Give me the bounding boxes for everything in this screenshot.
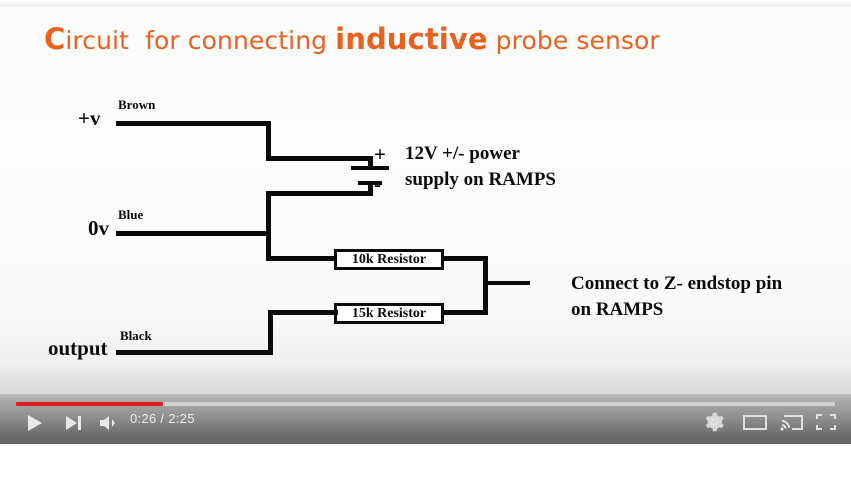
volume-button[interactable] [97,412,121,434]
endstop-note-line2: on RAMPS [571,298,663,322]
slide-title-emphasis: inductive [335,22,487,56]
wire-color-label-black: Black [120,328,152,344]
wire-15k-to-junction [443,310,488,315]
time-display: 0:26 / 2:25 [130,411,195,426]
slide-title-tail: probe sensor [496,26,660,55]
wire-battery-negative-rail [266,191,373,196]
wire-output-to-endstop [483,281,530,285]
wire-output-horizontal [116,350,273,355]
theater-mode-icon[interactable] [742,412,768,432]
top-edge-divider [0,0,851,7]
resistor-10k: 10k Resistor [334,249,444,270]
wire-zero-v-to-10k [266,256,336,261]
fullscreen-icon[interactable] [815,412,837,432]
battery-minus-sign: - [374,172,381,197]
progress-bar-track[interactable] [16,402,835,406]
battery-plus-sign: + [374,142,386,167]
video-title-bar: Auto Bed Leveling Installation Guide for… [0,444,851,497]
wire-zero-v-bus-vertical [266,191,271,261]
power-supply-note-line2: supply on RAMPS [405,168,556,192]
pin-label-plus-v: +v [78,106,100,131]
wire-plus-v-horizontal [116,121,271,126]
wire-output-vertical [268,310,273,355]
slide-title-rest: ircuit [65,26,129,55]
next-video-button[interactable] [62,412,84,434]
resistor-15k: 15k Resistor [334,303,444,324]
wire-plus-v-vertical [266,121,271,161]
power-supply-note-line1: 12V +/- power [405,142,520,166]
wire-zero-v-horizontal [116,231,271,236]
progress-bar-played [16,402,163,406]
wire-output-to-15k [268,310,338,315]
pin-label-zero-v: 0v [88,216,109,241]
resistor-10k-label: 10k Resistor [352,252,426,268]
player-control-bar[interactable] [0,394,851,444]
cast-icon[interactable] [779,412,805,432]
slide-title-capital: C [44,22,65,56]
resistor-15k-label: 15k Resistor [352,306,426,322]
slide-title: Circuit for connecting inductive probe s… [44,22,660,56]
play-button[interactable] [23,412,45,434]
youtube-video-page: Circuit for connecting inductive probe s… [0,0,851,497]
gear-icon[interactable] [702,410,726,434]
wire-color-label-brown: Brown [118,97,155,113]
video-player-viewport[interactable]: Circuit for connecting inductive probe s… [0,0,851,394]
slide-title-middle: for connecting [145,26,327,55]
wire-color-label-blue: Blue [118,207,143,223]
wire-10k-to-junction [443,256,488,261]
endstop-note-line1: Connect to Z- endstop pin [571,272,782,296]
wire-junction-bus-vertical [483,256,488,315]
wire-battery-positive-rail [266,156,373,161]
pin-label-output: output [48,336,108,361]
